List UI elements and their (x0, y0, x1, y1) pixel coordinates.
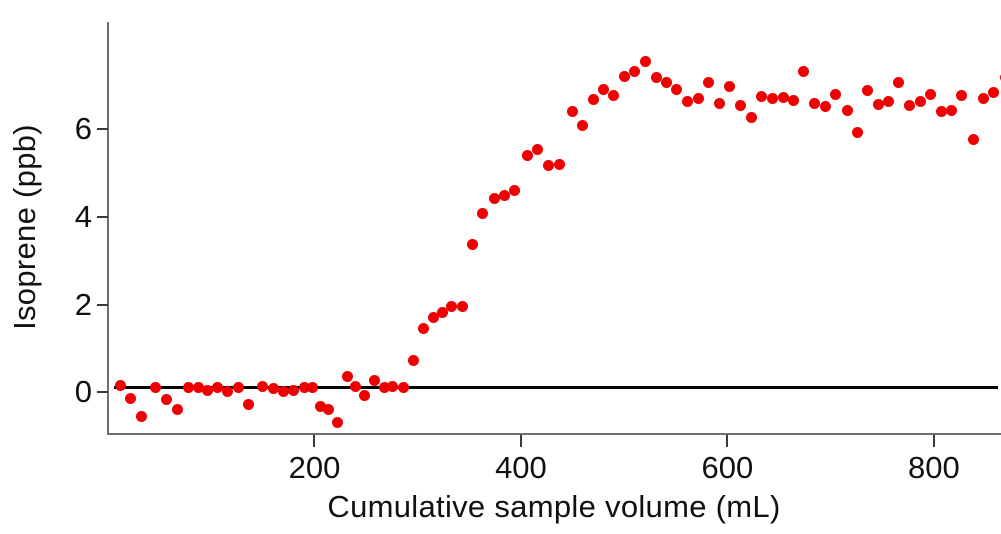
scatter-point (852, 127, 863, 138)
scatter-point (172, 404, 183, 415)
scatter-point (798, 66, 809, 77)
scatter-point (268, 383, 279, 394)
scatter-point (554, 159, 565, 170)
scatter-point (925, 89, 936, 100)
x-tick-mark (933, 435, 935, 447)
scatter-point (359, 390, 370, 401)
scatter-point (820, 101, 831, 112)
scatter-plot-figure: 0246 200400600800 Cumulative sample volu… (0, 0, 1001, 534)
scatter-point (115, 380, 126, 391)
x-axis-label: Cumulative sample volume (mL) (107, 489, 1001, 525)
scatter-point (735, 100, 746, 111)
scatter-point (640, 56, 651, 67)
scatter-point (946, 105, 957, 116)
scatter-point (350, 381, 361, 392)
scatter-point (323, 404, 334, 415)
y-tick-mark (97, 216, 108, 218)
scatter-point (387, 381, 398, 392)
y-tick-mark (97, 128, 108, 130)
x-tick-label: 200 (254, 452, 374, 483)
scatter-point (457, 301, 468, 312)
scatter-point (233, 382, 244, 393)
scatter-point (522, 150, 533, 161)
scatter-point (988, 87, 999, 98)
y-tick-mark (97, 304, 108, 306)
scatter-point (936, 106, 947, 117)
scatter-point (703, 77, 714, 88)
x-tick-label: 600 (667, 452, 787, 483)
scatter-point (756, 91, 767, 102)
scatter-point (125, 393, 136, 404)
scatter-point (842, 105, 853, 116)
scatter-point (369, 375, 380, 386)
scatter-point (467, 239, 478, 250)
scatter-point (608, 90, 619, 101)
scatter-point (222, 386, 233, 397)
scatter-point (408, 355, 419, 366)
scatter-point (577, 120, 588, 131)
x-tick-label: 400 (461, 452, 581, 483)
scatter-point (257, 381, 268, 392)
scatter-point (956, 90, 967, 101)
reference-line (114, 386, 998, 389)
x-tick-mark (726, 435, 728, 447)
scatter-point (398, 382, 409, 393)
scatter-point (915, 96, 926, 107)
x-tick-mark (520, 435, 522, 447)
scatter-point (904, 100, 915, 111)
scatter-point (307, 382, 318, 393)
scatter-point (862, 85, 873, 96)
x-tick-mark (313, 435, 315, 447)
scatter-point (724, 81, 735, 92)
scatter-point (830, 89, 841, 100)
scatter-point (332, 417, 343, 428)
x-tick-label: 800 (874, 452, 994, 483)
scatter-point (893, 77, 904, 88)
scatter-point (788, 95, 799, 106)
scatter-point (418, 323, 429, 334)
y-tick-mark (97, 391, 108, 393)
scatter-point (588, 94, 599, 105)
scatter-point (567, 106, 578, 117)
scatter-point (629, 66, 640, 77)
plot-area (108, 22, 1001, 434)
scatter-point (661, 77, 672, 88)
scatter-point (978, 93, 989, 104)
scatter-point (619, 71, 630, 82)
scatter-point (671, 84, 682, 95)
scatter-point (809, 98, 820, 109)
scatter-point (968, 134, 979, 145)
scatter-point (202, 385, 213, 396)
scatter-point (682, 96, 693, 107)
scatter-point (714, 98, 725, 109)
scatter-point (477, 208, 488, 219)
scatter-point (446, 301, 457, 312)
scatter-point (543, 160, 554, 171)
scatter-point (161, 394, 172, 405)
scatter-point (288, 385, 299, 396)
scatter-point (489, 193, 500, 204)
y-axis-label: Isoprene (ppb) (7, 17, 43, 437)
scatter-point (243, 399, 254, 410)
scatter-point (150, 382, 161, 393)
scatter-point (136, 411, 147, 422)
scatter-point (778, 92, 789, 103)
scatter-point (883, 96, 894, 107)
scatter-point (532, 144, 543, 155)
scatter-point (873, 99, 884, 110)
scatter-point (767, 93, 778, 104)
scatter-point (509, 185, 520, 196)
scatter-point (693, 93, 704, 104)
scatter-point (342, 371, 353, 382)
scatter-point (746, 112, 757, 123)
